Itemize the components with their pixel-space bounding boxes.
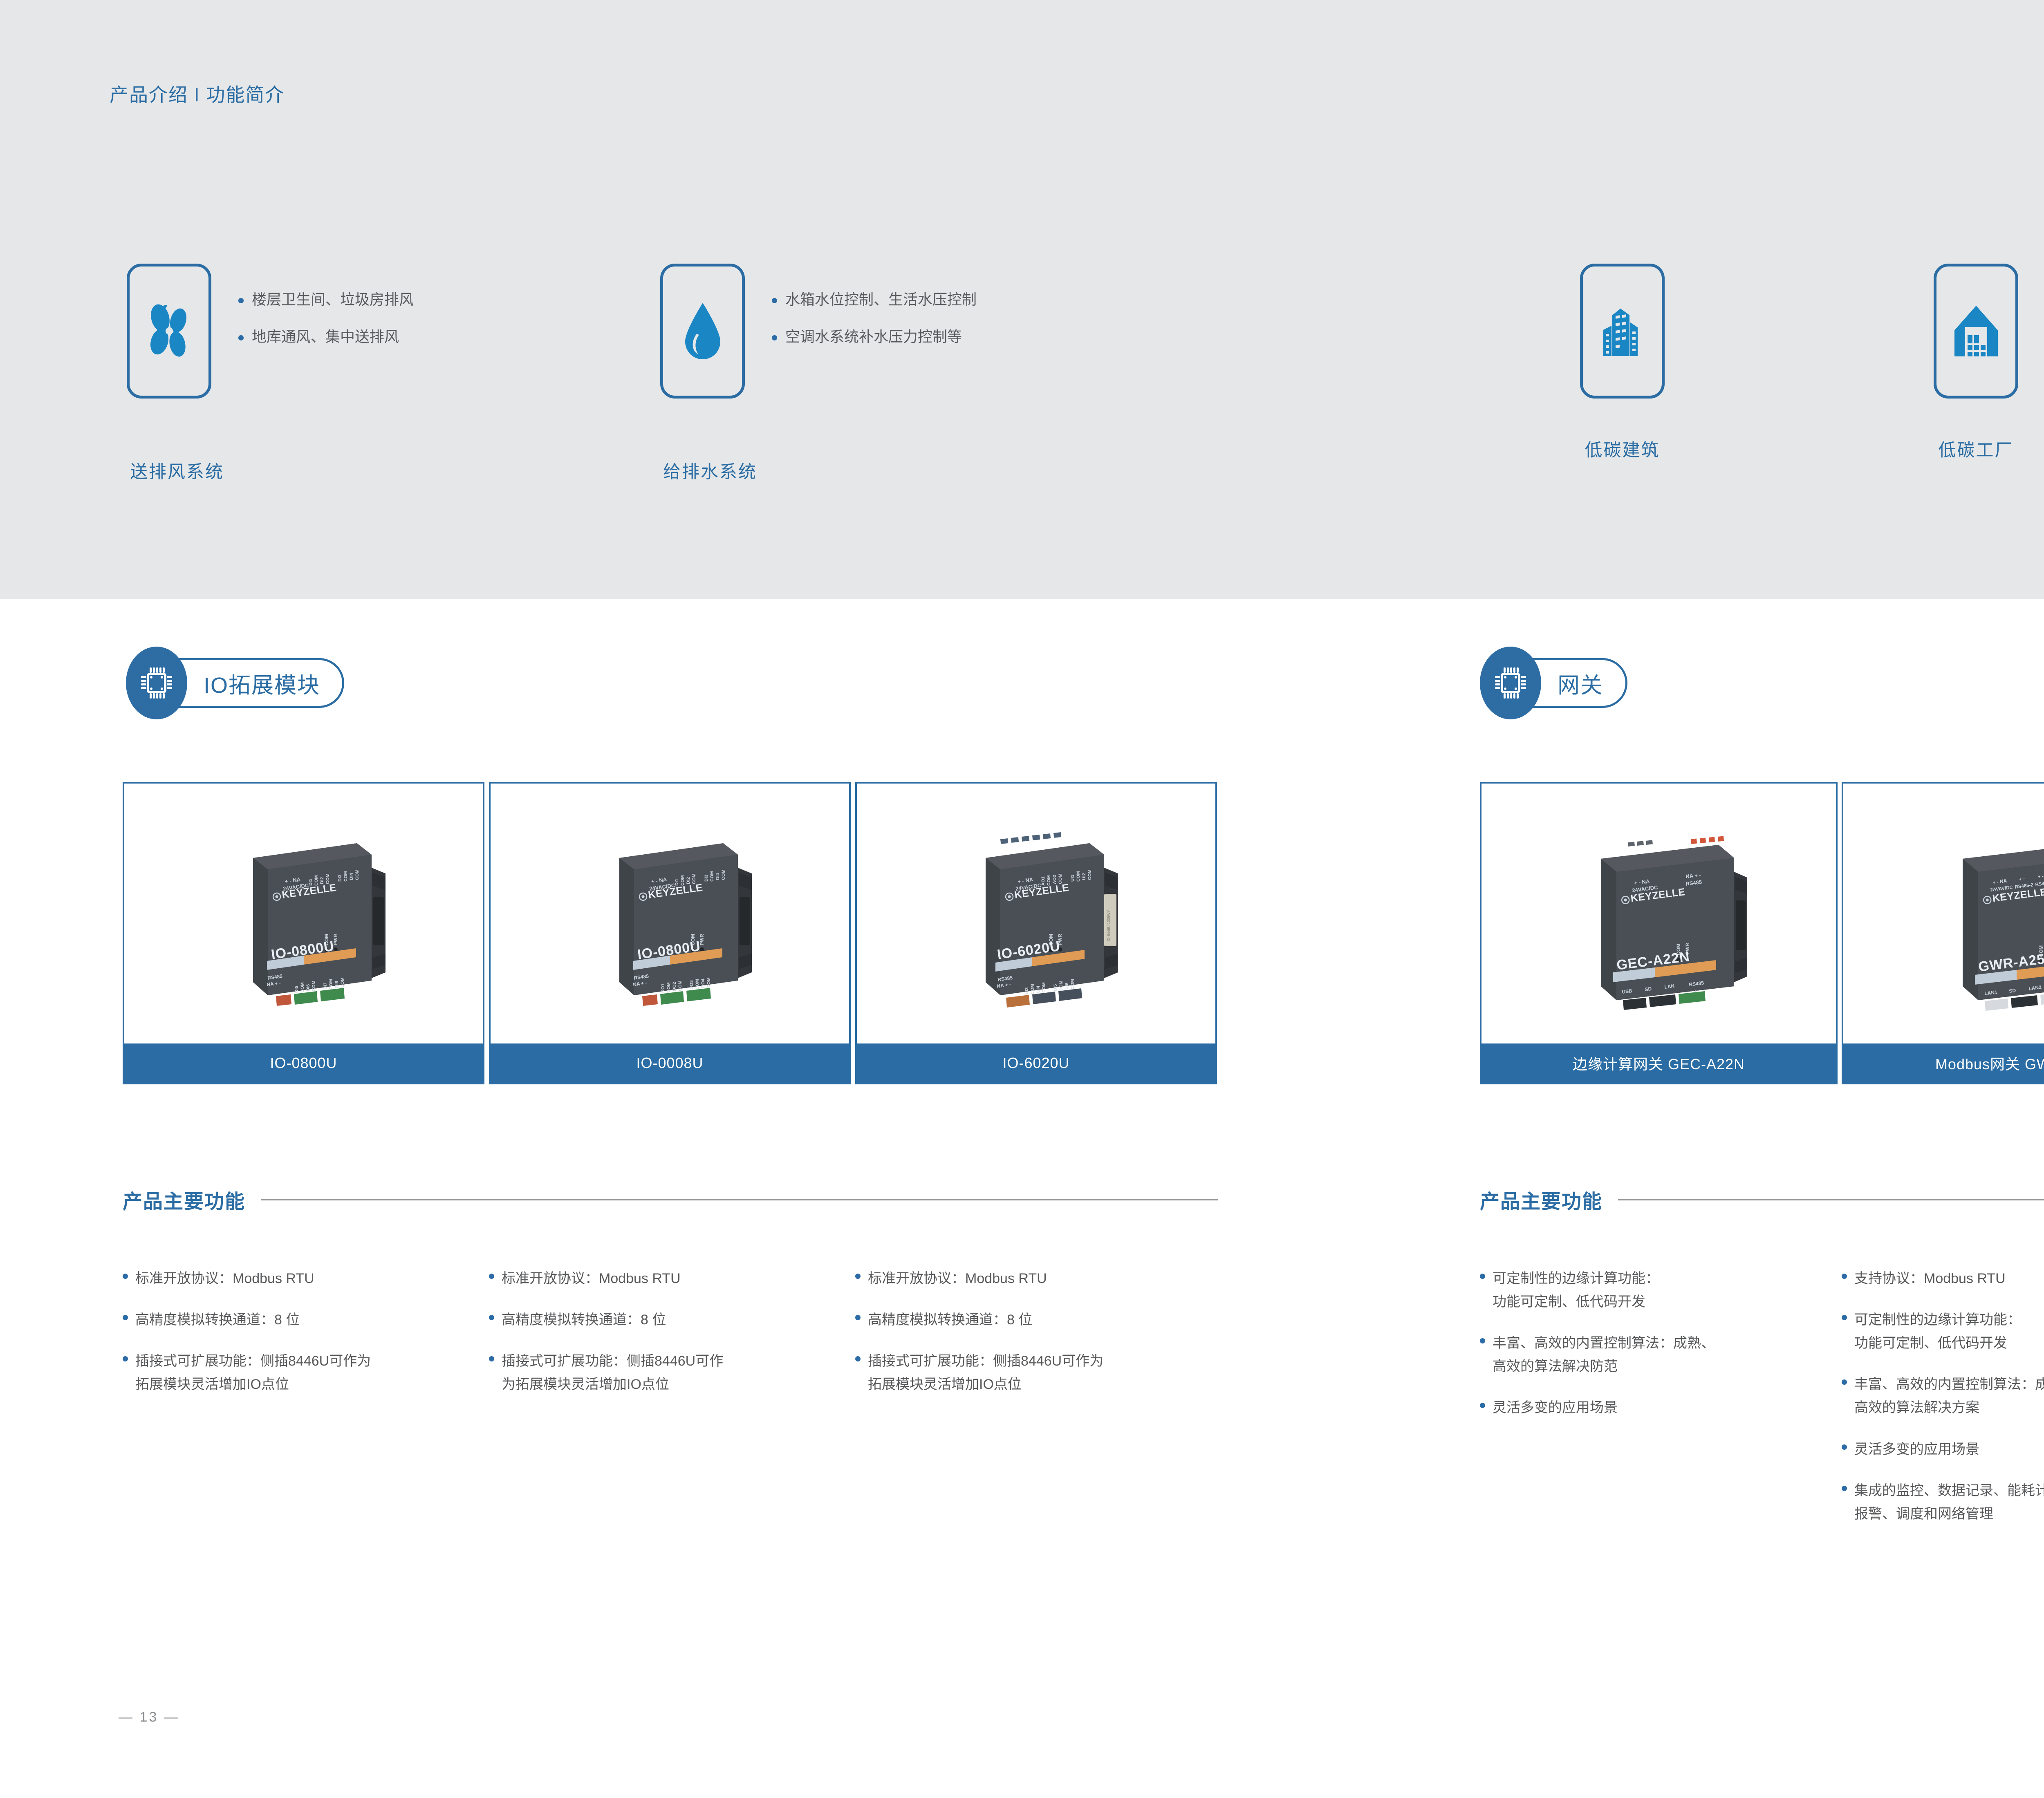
product-label: Modbus网关 GWR-A25N (1843, 1043, 2044, 1083)
svg-text:UI3: UI3 (1024, 987, 1029, 994)
feature-text: 高精度模拟转换通道：8 位 (502, 1308, 666, 1332)
svg-text:UI5: UI5 (1053, 984, 1058, 991)
list-item: 丰富、高效的内置控制算法：成熟、 高效的算法解决防范 (1480, 1332, 1831, 1378)
product-card-io-0800u[interactable]: + - NA 24VAC/DC DI1 COM DI2 COM DI3 COM … (123, 782, 484, 1084)
bullet-dot-icon (772, 298, 777, 303)
svg-text:COM: COM (710, 871, 715, 882)
svg-text:COM: COM (343, 871, 348, 882)
bullet-dot-icon (1842, 1486, 1847, 1491)
svg-text:COM: COM (1087, 869, 1092, 880)
bullet-dot-icon (238, 298, 244, 303)
svg-text:DI2: DI2 (686, 877, 691, 884)
svg-text:COM: COM (666, 982, 671, 993)
feature-text: 集成的监控、数据记录、能耗计量、 报警、调度和网络管理 (1854, 1479, 2044, 1526)
product-image: IO-8446U-1008WY + - NA 24VAC/DC AO1 COM … (857, 784, 1215, 1043)
features-heading-text: 产品主要功能 (123, 1185, 245, 1214)
factory-icon (1934, 264, 2018, 399)
feature-column-gateway-2: 支持协议：Modbus RTU 可定制性的边缘计算功能： 功能可定制、低代码开发… (1842, 1267, 2044, 1544)
features-heading-gateway: 产品主要功能 (1480, 1185, 2044, 1214)
bullet-dot-icon (1842, 1315, 1847, 1320)
bullet-dot-icon (772, 335, 777, 340)
svg-text:DO3: DO3 (689, 980, 694, 990)
feature-text: 丰富、高效的内置控制算法：成熟、 高效的算法解决防范 (1493, 1332, 1715, 1378)
bullet-dot-icon (123, 1274, 128, 1279)
svg-text:DI7: DI7 (323, 983, 328, 990)
svg-text:DI8: DI8 (334, 981, 339, 988)
product-label: IO-0800U (124, 1043, 483, 1083)
svg-text:COM: COM (695, 979, 700, 990)
list-item: 楼层卫生间、垃圾房排风 (238, 292, 414, 307)
list-item: 插接式可扩展功能：侧插8446U可作为 拓展模块灵活增加IO点位 (123, 1350, 482, 1396)
svg-text:COM: COM (721, 869, 726, 880)
svg-text:+ -: + - (2018, 875, 2025, 882)
list-item: 插接式可扩展功能：侧插8446U可作 为拓展模块灵活增加IO点位 (489, 1350, 849, 1396)
bullet-dot-icon (1480, 1403, 1485, 1408)
section-pill-gateways: 网关 (1480, 647, 1627, 719)
feature-text: 可定制性的边缘计算功能： 功能可定制、低代码开发 (1493, 1267, 1659, 1314)
svg-text:AO1: AO1 (1041, 876, 1046, 886)
svg-text:COM: COM (1059, 981, 1064, 991)
product-card-io-0008u[interactable]: + - NA 24VAC/DC DI1 COM DI2 COM DI3 COM … (489, 782, 851, 1084)
bullet-dot-icon (1480, 1274, 1485, 1279)
svg-text:COM: COM (329, 979, 334, 990)
svg-text:DO4: DO4 (701, 978, 706, 988)
svg-text:IO-8446U-1008WY: IO-8446U-1008WY (1107, 910, 1111, 941)
svg-text:COM: COM (706, 977, 711, 988)
product-label: IO-6020U (857, 1043, 1215, 1083)
feature-text: 插接式可扩展功能：侧插8446U可作 为拓展模块灵活增加IO点位 (502, 1350, 723, 1396)
svg-text:COM: COM (312, 981, 316, 991)
feature-column-io-2: 标准开放协议：Modbus RTU 高精度模拟转换通道：8 位 插接式可扩展功能… (489, 1267, 849, 1414)
page-number-left: — 13 — (119, 1709, 179, 1725)
bullet-dot-icon (1480, 1338, 1485, 1343)
list-item: 标准开放协议：Modbus RTU (489, 1267, 849, 1290)
svg-text:COM: COM (678, 981, 683, 991)
svg-text:+ -: + - (2037, 873, 2044, 880)
list-item: 高精度模拟转换通道：8 位 (123, 1308, 482, 1332)
list-item: 丰富、高效的内置控制算法：成熟、 高效的算法解决方案 (1842, 1373, 2044, 1420)
product-card-io-6020u[interactable]: IO-8446U-1008WY + - NA 24VAC/DC AO1 COM … (855, 782, 1217, 1084)
svg-text:DI4: DI4 (715, 873, 720, 880)
svg-text:DI6: DI6 (306, 984, 311, 991)
bullet-dot-icon (123, 1315, 128, 1320)
product-image: + - NA 24VAC/DC DI1 COM DI2 COM DI3 COM … (491, 784, 849, 1043)
list-item: 集成的监控、数据记录、能耗计量、 报警、调度和网络管理 (1842, 1479, 2044, 1526)
product-image: + - NA 24VAC/DC NA + - RS485 KEYZELLE CO… (1481, 784, 1836, 1043)
svg-text:COM: COM (1076, 871, 1081, 882)
heading-rule (261, 1199, 1218, 1200)
product-label: IO-0008U (491, 1043, 849, 1083)
svg-text:SD: SD (1644, 986, 1652, 992)
chip-icon (1480, 647, 1541, 719)
heading-rule (1618, 1199, 2044, 1200)
list-item: 插接式可扩展功能：侧插8446U可作为 拓展模块灵活增加IO点位 (855, 1350, 1219, 1396)
water-drop-icon (660, 264, 745, 399)
feature-text: 丰富、高效的内置控制算法：成熟、 高效的算法解决方案 (1854, 1373, 2044, 1420)
svg-text:UI6: UI6 (1065, 983, 1069, 990)
ventilation-bullet-list: 楼层卫生间、垃圾房排风 地库通风、集中送排风 (238, 264, 414, 344)
feature-column-io-1: 标准开放协议：Modbus RTU 高精度模拟转换通道：8 位 插接式可扩展功能… (123, 1267, 482, 1414)
feature-text: 高精度模拟转换通道：8 位 (135, 1308, 300, 1332)
svg-text:COM: COM (340, 977, 345, 988)
svg-text:UI1: UI1 (1070, 875, 1075, 882)
list-item: 地库通风、集中送排风 (238, 329, 414, 344)
water-bullet-list: 水箱水位控制、生活水压控制 空调水系统补水压力控制等 (772, 264, 977, 344)
tile-label: 低碳建筑 (1580, 436, 1665, 461)
svg-text:COM: COM (355, 869, 360, 880)
product-image: + - NA + - + - + - + - 2AVAV/DC RS485-2 … (1843, 784, 2044, 1043)
feature-column-gateway-1: 可定制性的边缘计算功能： 功能可定制、低代码开发 丰富、高效的内置控制算法：成熟… (1480, 1267, 1831, 1438)
bullet-dot-icon (855, 1274, 861, 1279)
section-pill-io-modules: IO拓展模块 (126, 647, 344, 719)
svg-text:UI4: UI4 (1036, 985, 1041, 993)
features-heading-text: 产品主要功能 (1480, 1185, 1602, 1214)
bullet-dot-icon (1842, 1274, 1847, 1279)
feature-column-io-3: 标准开放协议：Modbus RTU 高精度模拟转换通道：8 位 插接式可扩展功能… (855, 1267, 1219, 1414)
pill-label: 网关 (1558, 667, 1603, 699)
svg-text:COM: COM (1030, 984, 1035, 994)
features-heading-io: 产品主要功能 (123, 1185, 1218, 1214)
bullet-dot-icon (489, 1315, 494, 1320)
svg-text:AO2: AO2 (1052, 875, 1057, 884)
svg-text:LAN: LAN (1664, 983, 1674, 990)
svg-text:DI4: DI4 (349, 873, 354, 880)
feature-text: 高精度模拟转换通道：8 位 (868, 1308, 1032, 1332)
scenario-title-water-supply: 给排水系统 (663, 458, 757, 483)
bullet-text: 空调水系统补水压力控制等 (785, 329, 962, 344)
svg-text:DO1: DO1 (661, 983, 666, 993)
pill-label: IO拓展模块 (204, 667, 320, 699)
bullet-text: 地库通风、集中送排风 (252, 329, 399, 344)
chip-icon (126, 647, 187, 719)
product-card-gec-a22n[interactable]: + - NA 24VAC/DC NA + - RS485 KEYZELLE CO… (1480, 782, 1838, 1084)
bullet-dot-icon (238, 335, 244, 340)
product-card-gwr-a25n[interactable]: + - NA + - + - + - + - 2AVAV/DC RS485-2 … (1842, 782, 2044, 1084)
svg-text:DI5: DI5 (294, 986, 299, 993)
feature-text: 灵活多变的应用场景 (1493, 1396, 1618, 1420)
office-buildings-icon (1580, 264, 1665, 399)
list-item: 灵活多变的应用场景 (1842, 1438, 2044, 1461)
tile-label: 低碳工厂 (1934, 436, 2018, 461)
feature-text: 标准开放协议：Modbus RTU (135, 1267, 314, 1290)
list-item: 标准开放协议：Modbus RTU (855, 1267, 1219, 1290)
tile-low-carbon-factory: 低碳工厂 (1934, 264, 2018, 461)
svg-text:COM: COM (1042, 982, 1047, 993)
bullet-dot-icon (123, 1356, 128, 1361)
page-header-left: 产品介绍 I 功能简介 (110, 80, 285, 107)
bullet-dot-icon (1842, 1444, 1847, 1450)
bullet-text: 水箱水位控制、生活水压控制 (785, 292, 977, 307)
bullet-dot-icon (855, 1315, 861, 1320)
feature-text: 标准开放协议：Modbus RTU (502, 1267, 681, 1290)
pill-body: IO拓展模块 (171, 658, 344, 708)
fan-icon (127, 264, 211, 399)
feature-text: 插接式可扩展功能：侧插8446U可作为 拓展模块灵活增加IO点位 (135, 1350, 371, 1396)
list-item: 高精度模拟转换通道：8 位 (855, 1308, 1219, 1332)
bullet-dot-icon (489, 1356, 494, 1361)
scenario-ventilation: 楼层卫生间、垃圾房排风 地库通风、集中送排风 (127, 264, 414, 399)
svg-text:SD: SD (2008, 987, 2016, 994)
list-item: 高精度模拟转换通道：8 位 (489, 1308, 849, 1332)
product-label: 边缘计算网关 GEC-A22N (1481, 1043, 1836, 1083)
scenario-water-supply: 水箱水位控制、生活水压控制 空调水系统补水压力控制等 (660, 264, 977, 399)
bullet-dot-icon (489, 1274, 494, 1279)
bullet-dot-icon (855, 1356, 861, 1361)
svg-text:DO2: DO2 (672, 982, 677, 991)
list-item: 可定制性的边缘计算功能： 功能可定制、低代码开发 (1480, 1267, 1831, 1314)
feature-text: 可定制性的边缘计算功能： 功能可定制、低代码开发 (1854, 1308, 2021, 1355)
svg-text:COM: COM (1070, 979, 1075, 990)
feature-text: 灵活多变的应用场景 (1854, 1438, 1979, 1461)
feature-text: 支持协议：Modbus RTU (1854, 1267, 2006, 1290)
svg-text:DI3: DI3 (704, 875, 709, 882)
list-item: 可定制性的边缘计算功能： 功能可定制、低代码开发 (1842, 1308, 2044, 1355)
svg-text:DI2: DI2 (320, 877, 325, 884)
list-item: 水箱水位控制、生活水压控制 (772, 292, 977, 307)
bullet-text: 楼层卫生间、垃圾房排风 (252, 292, 414, 307)
svg-text:COM: COM (300, 982, 305, 993)
list-item: 标准开放协议：Modbus RTU (123, 1267, 482, 1290)
list-item: 灵活多变的应用场景 (1480, 1396, 1831, 1420)
svg-text:DI3: DI3 (338, 875, 343, 882)
tile-low-carbon-building: 低碳建筑 (1580, 264, 1665, 461)
svg-text:UI2: UI2 (1082, 873, 1087, 880)
list-item: 空调水系统补水压力控制等 (772, 329, 977, 344)
feature-text: 插接式可扩展功能：侧插8446U可作为 拓展模块灵活增加IO点位 (868, 1350, 1103, 1396)
list-item: 支持协议：Modbus RTU (1842, 1267, 2044, 1290)
bullet-dot-icon (1842, 1379, 1847, 1385)
product-image: + - NA 24VAC/DC DI1 COM DI2 COM DI3 COM … (124, 784, 483, 1043)
feature-text: 标准开放协议：Modbus RTU (868, 1267, 1047, 1290)
scenario-title-ventilation: 送排风系统 (130, 458, 224, 483)
